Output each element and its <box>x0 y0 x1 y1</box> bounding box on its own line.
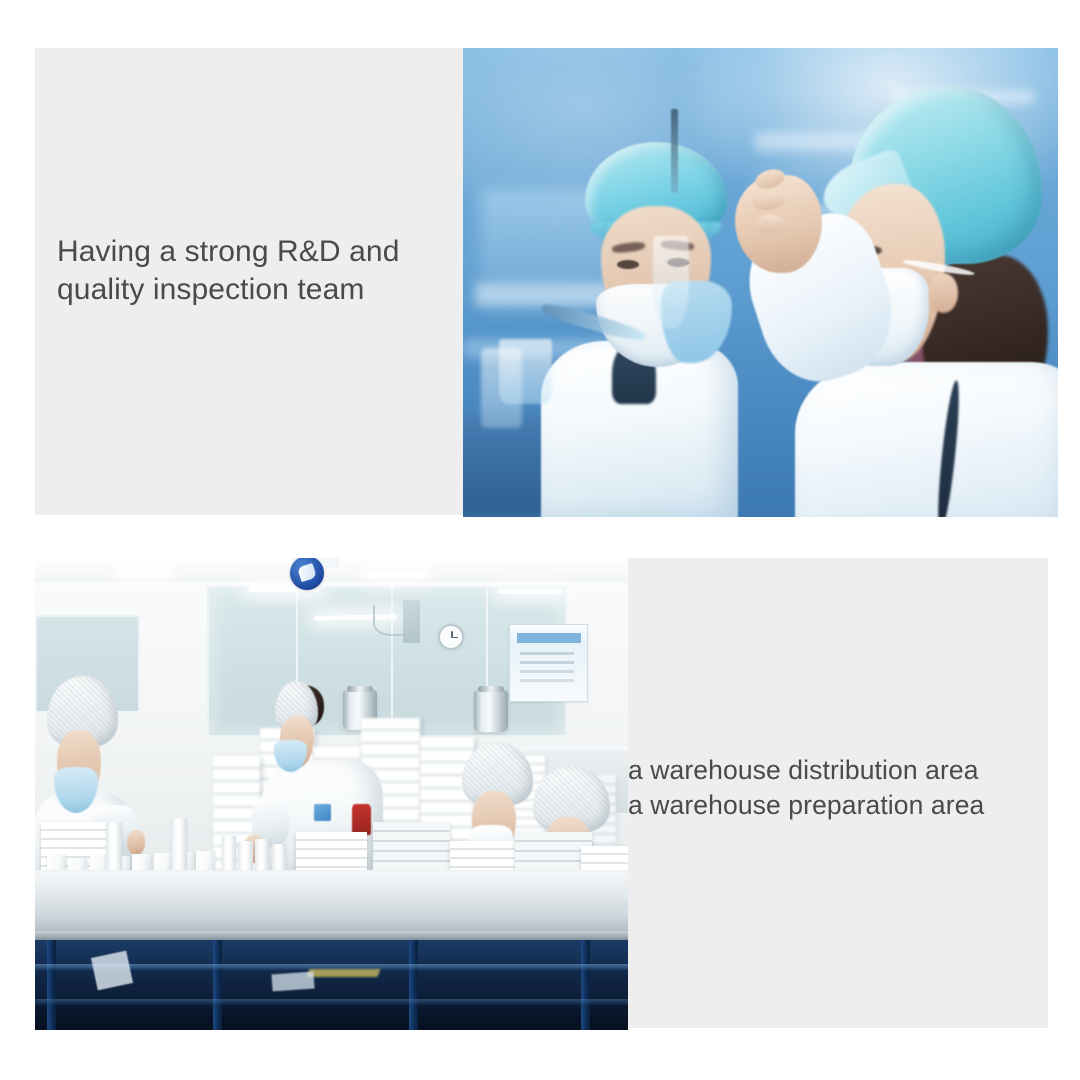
worker-badge <box>314 804 331 822</box>
bottom-section: a warehouse distribution area a warehous… <box>35 558 1048 1030</box>
table-leg <box>581 940 590 1030</box>
warehouse-packing-photo <box>35 558 628 1030</box>
top-caption-text: Having a strong R&D and quality inspecti… <box>57 233 457 310</box>
top-section: Having a strong R&D and quality inspecti… <box>35 48 1058 517</box>
table-leg <box>213 940 222 1030</box>
stainless-steel-table-top <box>35 870 628 936</box>
table-rail <box>35 999 628 1005</box>
worker-ear <box>929 273 959 313</box>
table-leg <box>409 940 418 1030</box>
ceiling-light <box>118 570 171 577</box>
lab-beaker <box>499 339 553 405</box>
page-root: Having a strong R&D and quality inspecti… <box>0 0 1080 1080</box>
floor-tape-marking <box>306 969 380 977</box>
wall-duct <box>403 600 421 642</box>
table-leg <box>47 940 56 1030</box>
worker-red-garment <box>352 804 370 836</box>
stainless-canister <box>474 690 508 732</box>
lab-coat <box>795 362 1058 517</box>
ceiling-light <box>498 589 563 595</box>
rd-quality-inspection-photo <box>463 48 1058 517</box>
lab-sample-tube <box>653 236 689 330</box>
paper-scrap <box>272 972 315 991</box>
product-tube <box>171 818 186 875</box>
lab-worker-profile <box>749 86 1058 517</box>
worker-hand <box>127 830 146 855</box>
wall-notice-board <box>509 624 588 702</box>
ceiling-light <box>367 572 426 578</box>
bottom-caption-text: a warehouse distribution area a warehous… <box>628 753 1034 823</box>
blue-circular-sign-icon <box>290 558 324 590</box>
lab-pipette <box>671 109 678 193</box>
